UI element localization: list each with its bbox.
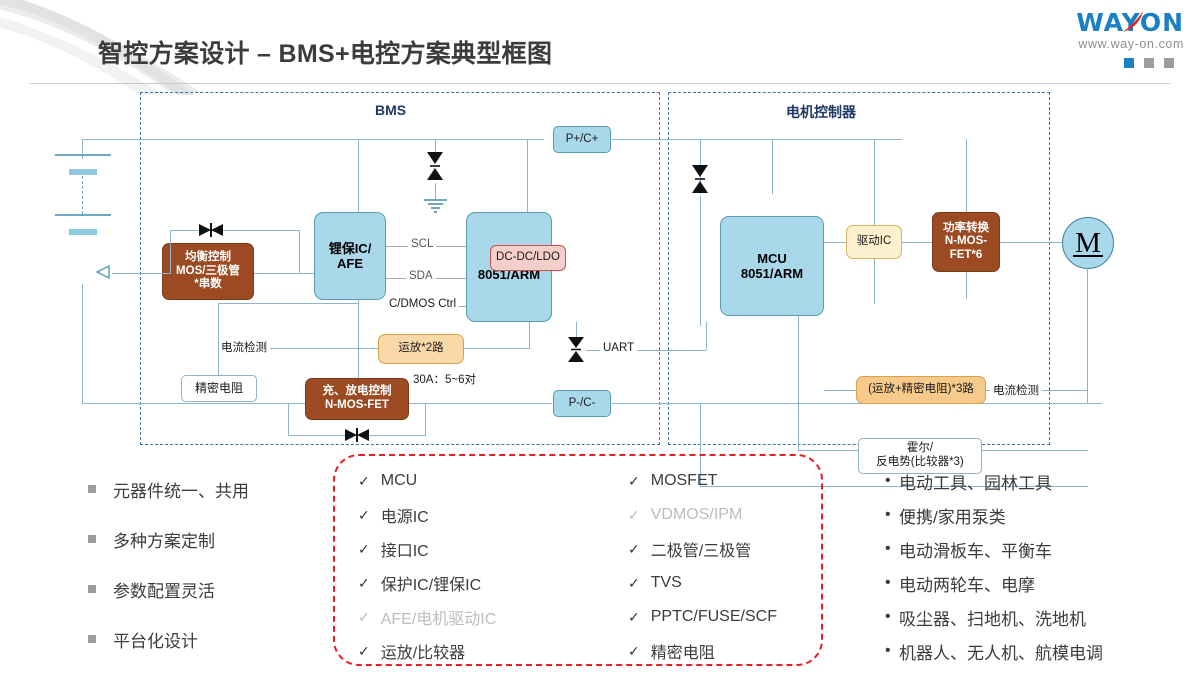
- wire-afe-top: [358, 139, 359, 212]
- chgdis-line2: N-MOS-FET: [323, 399, 392, 413]
- p-minus-label: P-/C-: [569, 397, 596, 411]
- check-icon: ✓: [358, 541, 370, 558]
- label-scl: SCL: [408, 238, 436, 250]
- label-sda: SDA: [406, 270, 436, 282]
- feature-label: 参数配置灵活: [113, 577, 215, 602]
- application-item: • 电动两轮车、电摩: [885, 566, 1103, 600]
- wire-mcu-to-driver: [824, 242, 846, 243]
- checklist-label: MCU: [381, 472, 417, 490]
- feature-label: 元器件统一、共用: [113, 477, 249, 502]
- checklist-item[interactable]: ✓ 接口IC: [358, 532, 496, 566]
- tvs-diode-bms-icon: [424, 150, 446, 184]
- balance-line1: 均衡控制: [176, 251, 240, 265]
- checklist-item[interactable]: ✓ MCU: [358, 464, 496, 498]
- diode-balance-icon: [196, 221, 226, 239]
- application-item: • 机器人、无人机、航模电调: [885, 634, 1103, 668]
- label-uart: UART: [600, 342, 637, 354]
- bullet-square-icon: [88, 535, 96, 543]
- node-afe[interactable]: 锂保IC/ AFE: [314, 212, 386, 300]
- dcdc-bms-label: DC-DC/LDO: [496, 251, 560, 265]
- afe-line1: 锂保IC/: [329, 241, 372, 256]
- wire-top-rail-right: [612, 139, 902, 140]
- driver-ic-label: 驱动IC: [857, 235, 892, 249]
- bullet-square-icon: [88, 485, 96, 493]
- bullet-dot-icon: •: [885, 574, 899, 592]
- feature-item: 元器件统一、共用: [88, 464, 249, 514]
- feature-label: 多种方案定制: [113, 527, 215, 552]
- block-diagram: BMS 电机控制器 均衡控制 MOS/三极管 *串数 锂保IC: [0, 88, 1200, 453]
- bullet-dot-icon: •: [885, 608, 899, 626]
- node-p-plus[interactable]: P+/C+: [553, 126, 611, 153]
- node-driver-ic[interactable]: 驱动IC: [846, 225, 902, 259]
- checklist-label: VDMOS/IPM: [651, 506, 743, 524]
- checklist-label: 二极管/三极管: [651, 537, 751, 561]
- opamp-2ch-label: 运放*2路: [398, 342, 443, 356]
- component-checklist-left: ✓ MCU ✓ 电源IC ✓ 接口IC ✓ 保护IC/锂保IC ✓ AFE/电机…: [358, 464, 496, 668]
- checklist-label: 接口IC: [381, 537, 429, 561]
- checklist-item[interactable]: ✓ MOSFET: [628, 464, 777, 498]
- mcu-mc-line1: MCU: [741, 251, 803, 266]
- label-current-detect-bms: 电流检测: [218, 339, 270, 355]
- logo-wordmark: WAYON: [1006, 8, 1184, 37]
- node-balance-control[interactable]: 均衡控制 MOS/三极管 *串数: [162, 243, 254, 300]
- check-icon: ✓: [628, 507, 640, 524]
- node-opamp-2ch[interactable]: 运放*2路: [378, 334, 464, 364]
- application-item: • 电动滑板车、平衡车: [885, 532, 1103, 566]
- region-label-motor-controller: 电机控制器: [786, 102, 856, 122]
- checklist-item[interactable]: ✓ 保护IC/锂保IC: [358, 566, 496, 600]
- wire-balance-to-afe: [254, 273, 314, 274]
- wire-bottom-rail-right: [612, 403, 1102, 404]
- feature-item: 参数配置灵活: [88, 564, 249, 614]
- wire-mc-feed-driver: [874, 139, 875, 304]
- wire-mc-feed-1b: [700, 196, 701, 326]
- node-p-minus[interactable]: P-/C-: [553, 390, 611, 417]
- tvs-diode-mc-icon: [689, 163, 711, 197]
- wire-balance-right-v: [299, 230, 300, 274]
- feature-label: 平台化设计: [113, 627, 198, 652]
- checklist-item[interactable]: ✓ PPTC/FUSE/SCF: [628, 600, 777, 634]
- wire-opamp-to-mcu: [464, 348, 530, 349]
- checklist-label: 电源IC: [381, 503, 429, 527]
- logo-square-1: [1124, 58, 1134, 68]
- checklist-item[interactable]: ✓ 运放/比较器: [358, 634, 496, 668]
- checklist-label: 运放/比较器: [381, 639, 465, 663]
- wire-fet-loop-r: [425, 403, 426, 436]
- p-plus-label: P+/C+: [566, 133, 599, 147]
- current-sense-mc-label: (运放+精密电阻)*3路: [868, 383, 974, 397]
- wire-mc-feed-dcdc: [772, 139, 773, 194]
- bottom-section: 元器件统一、共用 多种方案定制 参数配置灵活 平台化设计 ✓ MCU ✓ 电源I…: [0, 450, 1200, 675]
- wire-current-detect-bms-top: [218, 303, 358, 304]
- logo-square-2: [1144, 58, 1154, 68]
- bullet-dot-icon: •: [885, 472, 899, 490]
- brand-logo[interactable]: WAYON www.way-on.com: [1006, 8, 1184, 74]
- mcu-mc-line2: 8051/ARM: [741, 266, 803, 281]
- application-label: 电动工具、园林工具: [899, 469, 1052, 494]
- balance-line3: *串数: [176, 278, 240, 292]
- power-line2: N-MOS-: [943, 235, 989, 249]
- checklist-label: AFE/电机驱动IC: [381, 605, 497, 629]
- wire-mcu-hall-v: [798, 314, 799, 451]
- check-icon: ✓: [628, 473, 640, 490]
- checklist-item[interactable]: ✓ 电源IC: [358, 498, 496, 532]
- header-divider: [30, 83, 1170, 84]
- check-icon: ✓: [628, 575, 640, 592]
- wire-fet-loop-l: [288, 403, 289, 436]
- logo-swoosh-icon: [1121, 10, 1147, 36]
- node-current-sense-mc[interactable]: (运放+精密电阻)*3路: [856, 376, 986, 404]
- wire-top-rail: [82, 139, 544, 140]
- balance-line2: MOS/三极管: [176, 265, 240, 279]
- application-list: • 电动工具、园林工具 • 便携/家用泵类 • 电动滑板车、平衡车 • 电动两轮…: [885, 464, 1103, 668]
- page-title: 智控方案设计 – BMS+电控方案典型框图: [98, 34, 552, 70]
- wire-driver-to-power: [902, 242, 932, 243]
- node-precision-resistor[interactable]: 精密电阻: [181, 375, 257, 402]
- bullet-dot-icon: •: [885, 540, 899, 558]
- wire-power-to-motor: [1000, 242, 1062, 243]
- checklist-item[interactable]: ✓ VDMOS/IPM: [628, 498, 777, 532]
- ground-symbol-bms-icon: [423, 198, 448, 214]
- check-icon: ✓: [358, 643, 370, 660]
- bullet-square-icon: [88, 635, 96, 643]
- wire-mcu-bms-top: [527, 139, 528, 212]
- logo-square-3: [1164, 58, 1174, 68]
- checklist-label: 精密电阻: [651, 639, 715, 663]
- feature-item: 平台化设计: [88, 614, 249, 664]
- wire-opamp-mcu-v: [529, 322, 530, 349]
- balance-arrow-icon: [95, 264, 115, 280]
- application-item: • 便携/家用泵类: [885, 498, 1103, 532]
- feature-list: 元器件统一、共用 多种方案定制 参数配置灵活 平台化设计: [88, 464, 249, 664]
- wire-motor-down: [1087, 267, 1088, 403]
- application-label: 电动滑板车、平衡车: [899, 537, 1052, 562]
- tvs-diode-uart-icon: [565, 336, 587, 364]
- check-icon: ✓: [358, 575, 370, 592]
- application-label: 电动两轮车、电摩: [899, 571, 1035, 596]
- checklist-item[interactable]: ✓ 二极管/三极管: [628, 532, 777, 566]
- diode-fet-icon: [342, 426, 372, 444]
- precision-resistor-label: 精密电阻: [195, 381, 243, 395]
- check-icon: ✓: [628, 643, 640, 660]
- wire-balance-left-v: [170, 230, 171, 274]
- checklist-label: PPTC/FUSE/SCF: [651, 608, 777, 626]
- check-icon: ✓: [628, 541, 640, 558]
- label-current-detect-mc: 电流检测: [990, 382, 1042, 398]
- application-label: 吸尘器、扫地机、洗地机: [899, 605, 1086, 630]
- wire-balance-out: [112, 273, 170, 274]
- bullet-square-icon: [88, 585, 96, 593]
- wire-balance-top: [170, 230, 300, 231]
- afe-line2: AFE: [329, 256, 372, 271]
- node-power-conversion[interactable]: 功率转换 N-MOS- FET*6: [932, 212, 1000, 272]
- check-icon: ✓: [358, 507, 370, 524]
- power-line1: 功率转换: [943, 222, 989, 236]
- bullet-dot-icon: •: [885, 642, 899, 660]
- logo-url: www.way-on.com: [1006, 37, 1184, 51]
- wire-uart-mcu2-v: [706, 322, 707, 350]
- checklist-item[interactable]: ✓ 精密电阻: [628, 634, 777, 668]
- node-charge-discharge-fet[interactable]: 充、放电控制 N-MOS-FET: [305, 378, 409, 420]
- region-label-bms: BMS: [375, 102, 406, 118]
- application-item: • 吸尘器、扫地机、洗地机: [885, 600, 1103, 634]
- check-icon: ✓: [358, 473, 370, 490]
- bullet-dot-icon: •: [885, 506, 899, 524]
- checklist-label: 保护IC/锂保IC: [381, 571, 481, 595]
- checklist-label: TVS: [651, 574, 682, 592]
- application-item: • 电动工具、园林工具: [885, 464, 1103, 498]
- label-cdmos: C/DMOS Ctrl: [386, 298, 459, 310]
- wire-battery-bottom-vert: [82, 284, 83, 404]
- application-label: 机器人、无人机、航模电调: [899, 639, 1103, 664]
- wire-mcu-to-sense: [824, 390, 856, 391]
- component-checklist-right: ✓ MOSFET ✓ VDMOS/IPM ✓ 二极管/三极管 ✓ TVS ✓ P…: [628, 464, 777, 668]
- chgdis-line1: 充、放电控制: [323, 385, 392, 399]
- check-icon: ✓: [358, 609, 370, 626]
- feature-item: 多种方案定制: [88, 514, 249, 564]
- label-fet-spec: 30A：5~6对: [410, 371, 479, 387]
- node-mcu-motor[interactable]: MCU 8051/ARM: [720, 216, 824, 316]
- checklist-item[interactable]: ✓ TVS: [628, 566, 777, 600]
- application-label: 便携/家用泵类: [899, 503, 1006, 528]
- checklist-label: MOSFET: [651, 472, 718, 490]
- checklist-item[interactable]: ✓ AFE/电机驱动IC: [358, 600, 496, 634]
- power-line3: FET*6: [943, 249, 989, 263]
- node-motor[interactable]: M: [1062, 217, 1114, 269]
- check-icon: ✓: [628, 609, 640, 626]
- node-dcdc-bms[interactable]: DC-DC/LDO: [490, 245, 566, 271]
- motor-underline: [1073, 255, 1103, 257]
